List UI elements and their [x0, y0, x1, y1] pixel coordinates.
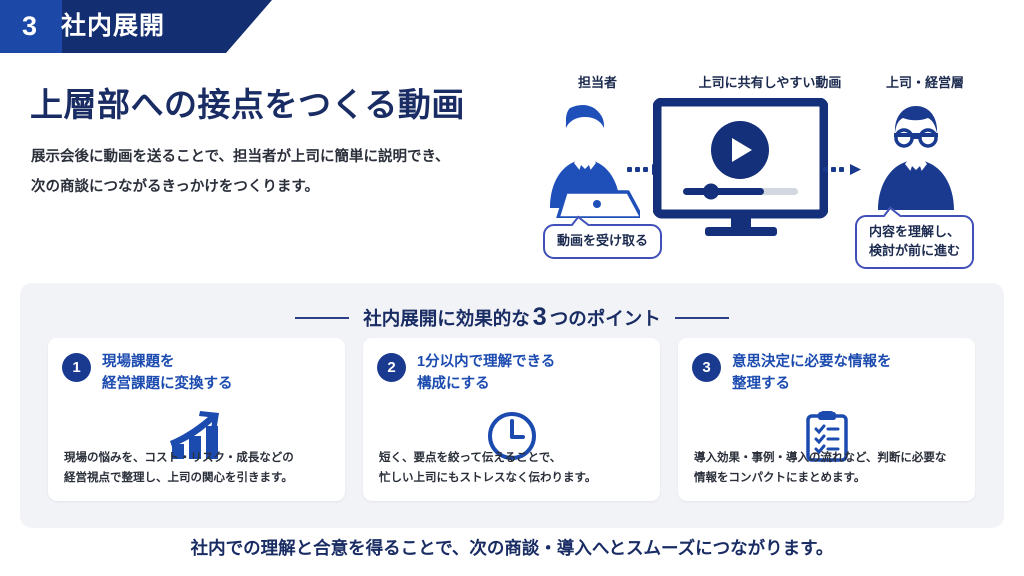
- points-panel-heading: 社内展開に効果的な 3 つのポイント: [20, 303, 1004, 332]
- point-card-1-body-line-2: 経営視点で整理し、上司の関心を引きます。: [64, 468, 329, 488]
- callout-left-tail: [569, 213, 591, 226]
- ribbon-title: 社内展開: [61, 14, 165, 39]
- point-card-2-badge: 2: [377, 353, 406, 382]
- point-card-1-body-line-1: 現場の悩みを、コスト・リスク・成長などの: [64, 448, 329, 468]
- employee-with-laptop-icon: [530, 100, 640, 223]
- callout-right-line-2: 検討が前に進む: [869, 242, 960, 261]
- point-card-1-title: 現場課題を 経営課題に変換する: [102, 352, 233, 396]
- point-card-3-head: 3 意思決定に必要な情報を 整理する: [678, 338, 975, 396]
- point-card-2-title-line-2: 構成にする: [417, 374, 555, 396]
- callout-right-line-1: 内容を理解し、: [869, 223, 960, 242]
- heading-rule-left: [295, 317, 349, 319]
- point-card-2-body-line-2: 忙しい上司にもストレスなく伝わります。: [379, 468, 644, 488]
- point-card-3[interactable]: 3 意思決定に必要な情報を 整理する: [678, 338, 975, 501]
- point-card-3-title-line-1: 意思決定に必要な情報を: [732, 352, 892, 374]
- hero-description-line-2: 次の商談につながるきっかけをつくります。: [31, 173, 511, 203]
- callout-right-tail: [881, 204, 903, 217]
- ribbon-number: 3: [22, 13, 37, 40]
- heading-text: 社内展開に効果的な 3 つのポイント: [363, 303, 660, 332]
- manager-with-glasses-icon: [860, 100, 972, 223]
- point-card-3-badge: 3: [692, 353, 721, 382]
- video-monitor-icon: [653, 98, 828, 243]
- point-card-2-title-line-1: 1分以内で理解できる: [417, 352, 555, 374]
- page-title: 上層部への接点をつくる動画: [30, 78, 465, 126]
- point-card-3-body-line-1: 導入効果・事例・導入の流れなど、判断に必要な: [694, 448, 959, 468]
- points-panel: 社内展開に効果的な 3 つのポイント 1 現場課題を 経営課題に変換する: [20, 283, 1004, 528]
- point-card-2[interactable]: 2 1分以内で理解できる 構成にする 短く、要点を絞って伝えることで、 忙しい上…: [363, 338, 660, 501]
- heading-rule-right: [675, 317, 729, 319]
- slide: 3 社内展開 上層部への接点をつくる動画 展示会後に動画を送ることで、担当者が上…: [0, 0, 1024, 576]
- point-card-3-body: 導入効果・事例・導入の流れなど、判断に必要な 情報をコンパクトにまとめます。: [678, 448, 975, 488]
- callout-left: 動画を受け取る: [543, 224, 662, 259]
- point-card-2-head: 2 1分以内で理解できる 構成にする: [363, 338, 660, 396]
- callout-right: 内容を理解し、 検討が前に進む: [855, 215, 974, 269]
- point-card-1[interactable]: 1 現場課題を 経営課題に変換する: [48, 338, 345, 501]
- point-card-1-head: 1 現場課題を 経営課題に変換する: [48, 338, 345, 396]
- point-card-2-body-line-1: 短く、要点を絞って伝えることで、: [379, 448, 644, 468]
- flow-illustration: 担当者 上司に共有しやすい動画 上司・経営層: [505, 62, 1015, 272]
- point-card-1-title-line-2: 経営課題に変換する: [102, 374, 233, 396]
- section-ribbon: 3 社内展開: [0, 0, 272, 53]
- footer-message: 社内での理解と合意を得ることで、次の商談・導入へとスムーズにつながります。: [0, 535, 1024, 560]
- point-card-3-body-line-2: 情報をコンパクトにまとめます。: [694, 468, 959, 488]
- illustration-label-right: 上司・経営層: [835, 72, 1015, 91]
- hero-description: 展示会後に動画を送ることで、担当者が上司に簡単に説明でき、 次の商談につながるき…: [31, 143, 511, 202]
- point-card-1-badge: 1: [62, 353, 91, 382]
- point-card-3-title: 意思決定に必要な情報を 整理する: [732, 352, 892, 396]
- heading-prefix: 社内展開に効果的な: [363, 305, 530, 331]
- heading-number: 3: [530, 303, 550, 332]
- point-card-1-body: 現場の悩みを、コスト・リスク・成長などの 経営視点で整理し、上司の関心を引きます…: [48, 448, 345, 488]
- flow-arrow-right: [823, 162, 863, 180]
- callout-left-text: 動画を受け取る: [557, 233, 648, 248]
- point-card-2-body: 短く、要点を絞って伝えることで、 忙しい上司にもストレスなく伝わります。: [363, 448, 660, 488]
- point-cards: 1 現場課題を 経営課題に変換する: [48, 338, 976, 501]
- point-card-2-title: 1分以内で理解できる 構成にする: [417, 352, 555, 396]
- point-card-1-title-line-1: 現場課題を: [102, 352, 233, 374]
- heading-suffix: つのポイント: [550, 305, 661, 331]
- point-card-3-title-line-2: 整理する: [732, 374, 892, 396]
- hero-description-line-1: 展示会後に動画を送ることで、担当者が上司に簡単に説明でき、: [31, 143, 511, 173]
